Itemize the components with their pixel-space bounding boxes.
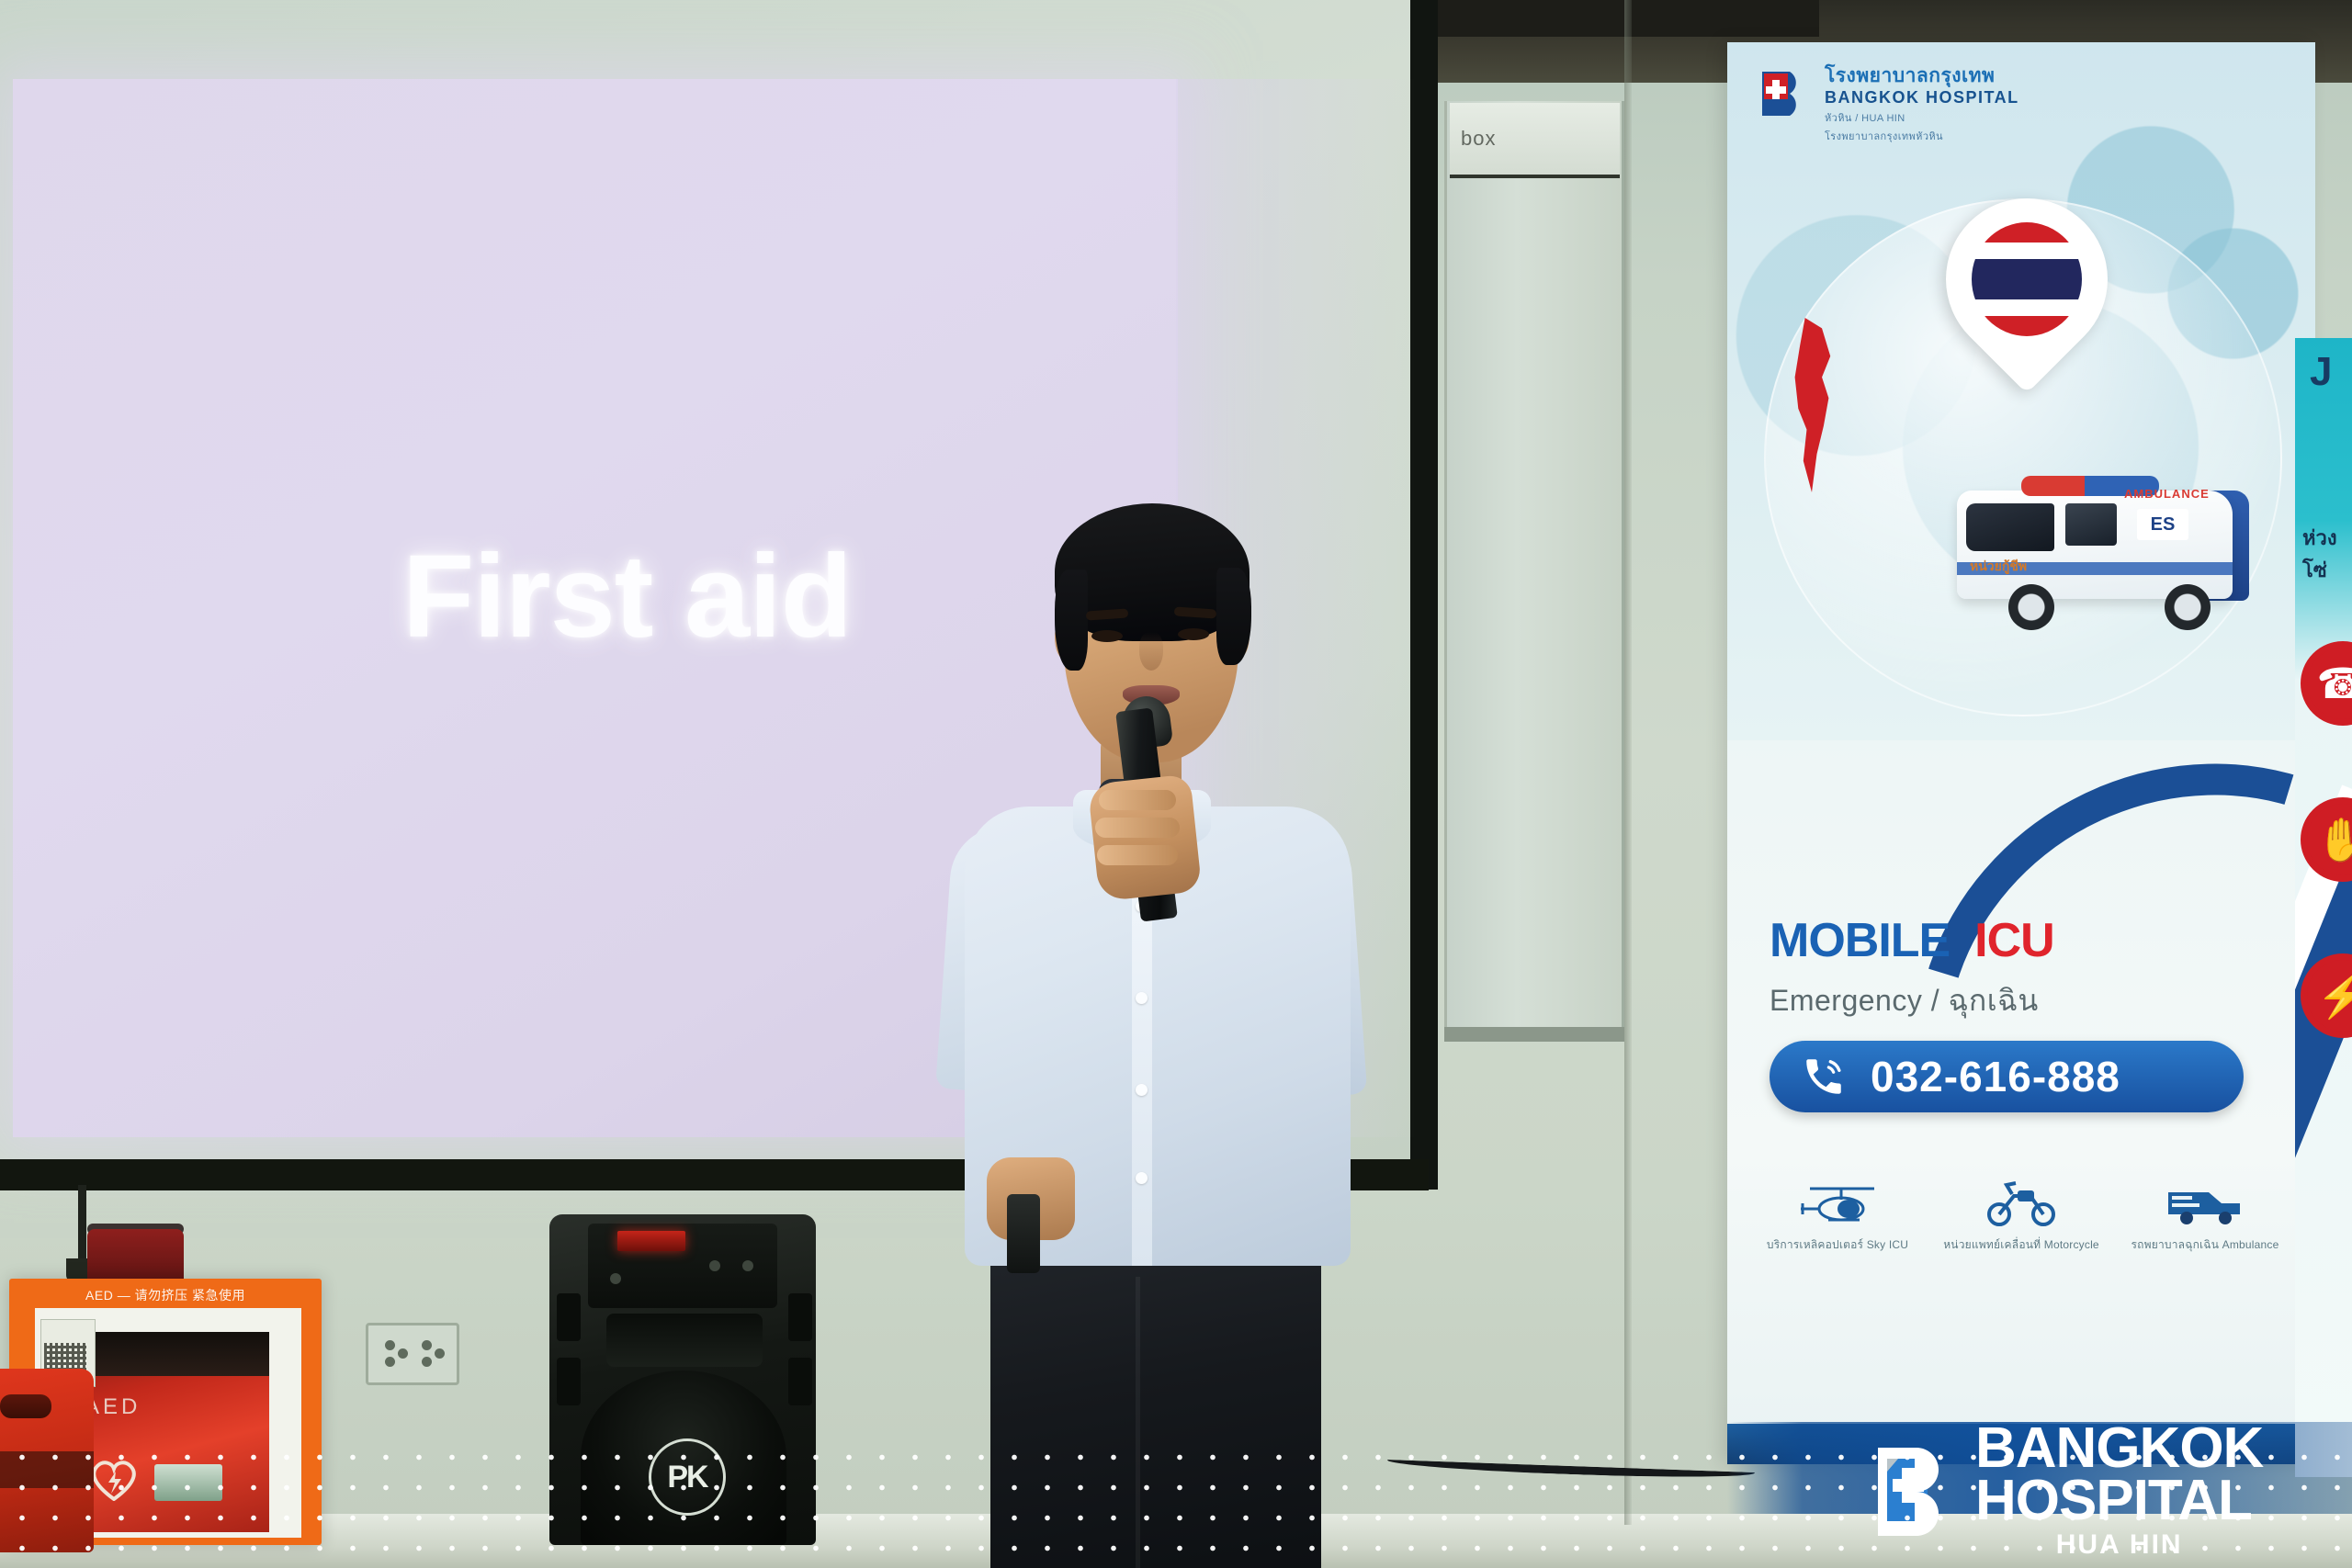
outlet-hole xyxy=(422,1357,432,1367)
thailand-flag-icon xyxy=(1972,222,2082,336)
banner-headline: MOBILE ICU xyxy=(1770,917,2284,964)
outlet-hole xyxy=(398,1348,408,1359)
wall-panel-header: box xyxy=(1450,103,1620,178)
helicopter-icon xyxy=(1755,1168,1920,1236)
presenter xyxy=(919,514,1433,1568)
eye-right xyxy=(1178,628,1209,640)
finger xyxy=(1097,845,1178,865)
hospital-english-name: BANGKOK HOSPITAL xyxy=(1825,88,2019,107)
aed-device-top-shadow xyxy=(72,1332,269,1376)
wall-panel-base xyxy=(1444,1027,1624,1042)
ambulance-side-window xyxy=(2065,503,2117,546)
speaker-knob[interactable] xyxy=(610,1273,621,1284)
watermark-logo: BANGKOK HOSPITAL HUA HIN xyxy=(1874,1422,2263,1558)
outlet-hole xyxy=(385,1357,395,1367)
hospital-name-block: โรงพยาบาลกรุงเทพ BANGKOK HOSPITAL หัวหิน… xyxy=(1825,66,2019,144)
service-item: หน่วยแพทย์เคลื่อนที่ Motorcycle xyxy=(1939,1168,2104,1254)
wall-seam xyxy=(1624,0,1632,1525)
service-caption: หน่วยแพทย์เคลื่อนที่ Motorcycle xyxy=(1939,1236,2104,1254)
wall-outlet xyxy=(366,1323,459,1385)
shirt-button xyxy=(1136,1084,1148,1096)
hospital-cross-b-icon xyxy=(1760,66,1815,121)
banner-text-block: MOBILE ICU Emergency / ฉุกเฉิน 032-616-8… xyxy=(1770,917,2284,1112)
shirt-button xyxy=(1136,1172,1148,1184)
service-caption: รถพยาบาลฉุกเฉิน Ambulance xyxy=(2122,1236,2288,1254)
watermark-text: BANGKOK HOSPITAL HUA HIN xyxy=(1975,1422,2263,1558)
banner2-partial-text: J xyxy=(2310,349,2332,395)
motorcycle-icon xyxy=(1939,1168,2104,1236)
banner-phone-pill[interactable]: 032-616-888 xyxy=(1770,1041,2244,1112)
service-caption: บริการเหลิคอปเตอร์ Sky ICU xyxy=(1755,1236,1920,1254)
speaker-brand-logo: PK xyxy=(649,1438,726,1516)
finger xyxy=(1099,790,1176,810)
presenter-nose xyxy=(1139,632,1163,671)
alarm-beacon xyxy=(87,1229,184,1284)
ambulance-photo: AMBULANCE ES หน่วยกู้ชีพ xyxy=(1957,454,2260,647)
watermark-line-2: HOSPITAL xyxy=(1975,1474,2263,1527)
aed-bag-badge xyxy=(0,1394,51,1418)
hospital-branch-name: หัวหิน / HUA HIN xyxy=(1825,109,2019,126)
presentation-clicker[interactable] xyxy=(1007,1194,1040,1273)
speaker-vent xyxy=(557,1358,581,1405)
finger xyxy=(1095,818,1180,838)
presenter-trousers xyxy=(990,1231,1321,1568)
map-pin-thai-flag xyxy=(1946,198,2108,412)
ambulance-wordmark: AMBULANCE xyxy=(2124,487,2210,501)
ambulance-thai-text: หน่วยกู้ชีพ xyxy=(1970,557,2027,577)
hospital-thai-name: โรงพยาบาลกรุงเทพ xyxy=(1825,66,2019,86)
wall-service-panel xyxy=(1444,101,1624,1033)
speaker-vent xyxy=(557,1293,581,1341)
slide-title: First aid xyxy=(402,529,852,664)
service-item: รถพยาบาลฉุกเฉิน Ambulance xyxy=(2122,1168,2288,1254)
rollup-banner-mobile-icu: โรงพยาบาลกรุงเทพ BANGKOK HOSPITAL หัวหิน… xyxy=(1727,42,2315,1464)
ambulance-es-badge: ES xyxy=(2137,509,2188,540)
shirt-button xyxy=(1136,992,1148,1004)
outlet-hole xyxy=(385,1340,395,1350)
eye-left xyxy=(1091,630,1123,642)
phone-icon: ☎ xyxy=(2301,641,2352,726)
speaker-vent xyxy=(788,1293,812,1341)
speaker-knob[interactable] xyxy=(709,1260,720,1271)
ambulance-wheel xyxy=(2008,584,2054,630)
outlet-hole xyxy=(422,1340,432,1350)
hospital-tagline: โรงพยาบาลกรุงเทพหัวหิน xyxy=(1825,128,2019,144)
rollup-banner-secondary: J ห่วงโซ่ ☎ ✋ ⚡ xyxy=(2295,338,2352,1477)
banner-phone-number: 032-616-888 xyxy=(1871,1052,2120,1101)
speaker-vent xyxy=(788,1358,812,1405)
speaker-knob[interactable] xyxy=(742,1260,753,1271)
photo-canvas: First aid box AED — 请勿挤压 紧急使用 AED xyxy=(0,0,2352,1568)
ambulance-wheel xyxy=(2165,584,2211,630)
outlet-hole xyxy=(435,1348,445,1359)
bangkok-hospital-logo: โรงพยาบาลกรุงเทพ BANGKOK HOSPITAL หัวหิน… xyxy=(1760,66,2019,144)
presenter-hair-right xyxy=(1216,568,1251,665)
banner-service-icons: บริการเหลิคอปเตอร์ Sky ICU หน่วยแพทย์เคล… xyxy=(1755,1168,2288,1254)
trouser-crease xyxy=(1136,1277,1140,1568)
aed-device-screen xyxy=(154,1464,222,1501)
speaker-led-display xyxy=(617,1231,685,1251)
presenter-hair-left xyxy=(1055,570,1088,671)
phone-ringing-icon xyxy=(1801,1054,1847,1100)
banner2-thai-text: ห่วงโซ่ xyxy=(2302,522,2352,586)
watermark-line-1: BANGKOK xyxy=(1975,1422,2263,1474)
aed-bag-strap xyxy=(0,1451,94,1488)
ambulance-windshield xyxy=(1966,503,2054,551)
speaker-tweeter-horn xyxy=(606,1314,763,1367)
service-item: บริการเหลิคอปเตอร์ Sky ICU xyxy=(1755,1168,1920,1254)
bangkok-hospital-cross-b-icon xyxy=(1874,1444,1955,1536)
banner-subhead: Emergency / ฉุกเฉิน xyxy=(1770,977,2284,1024)
banner-headline-mobile: MOBILE xyxy=(1770,914,1950,967)
heart-shock-icon xyxy=(88,1457,140,1501)
banner-headline-icu: ICU xyxy=(1974,914,2054,967)
wall-panel-label: box xyxy=(1461,127,1496,151)
aed-cabinet-warning-label: AED — 请勿挤压 紧急使用 xyxy=(9,1286,322,1304)
watermark-line-3: HUA HIN xyxy=(1975,1532,2263,1558)
ambulance-icon xyxy=(2122,1168,2288,1236)
